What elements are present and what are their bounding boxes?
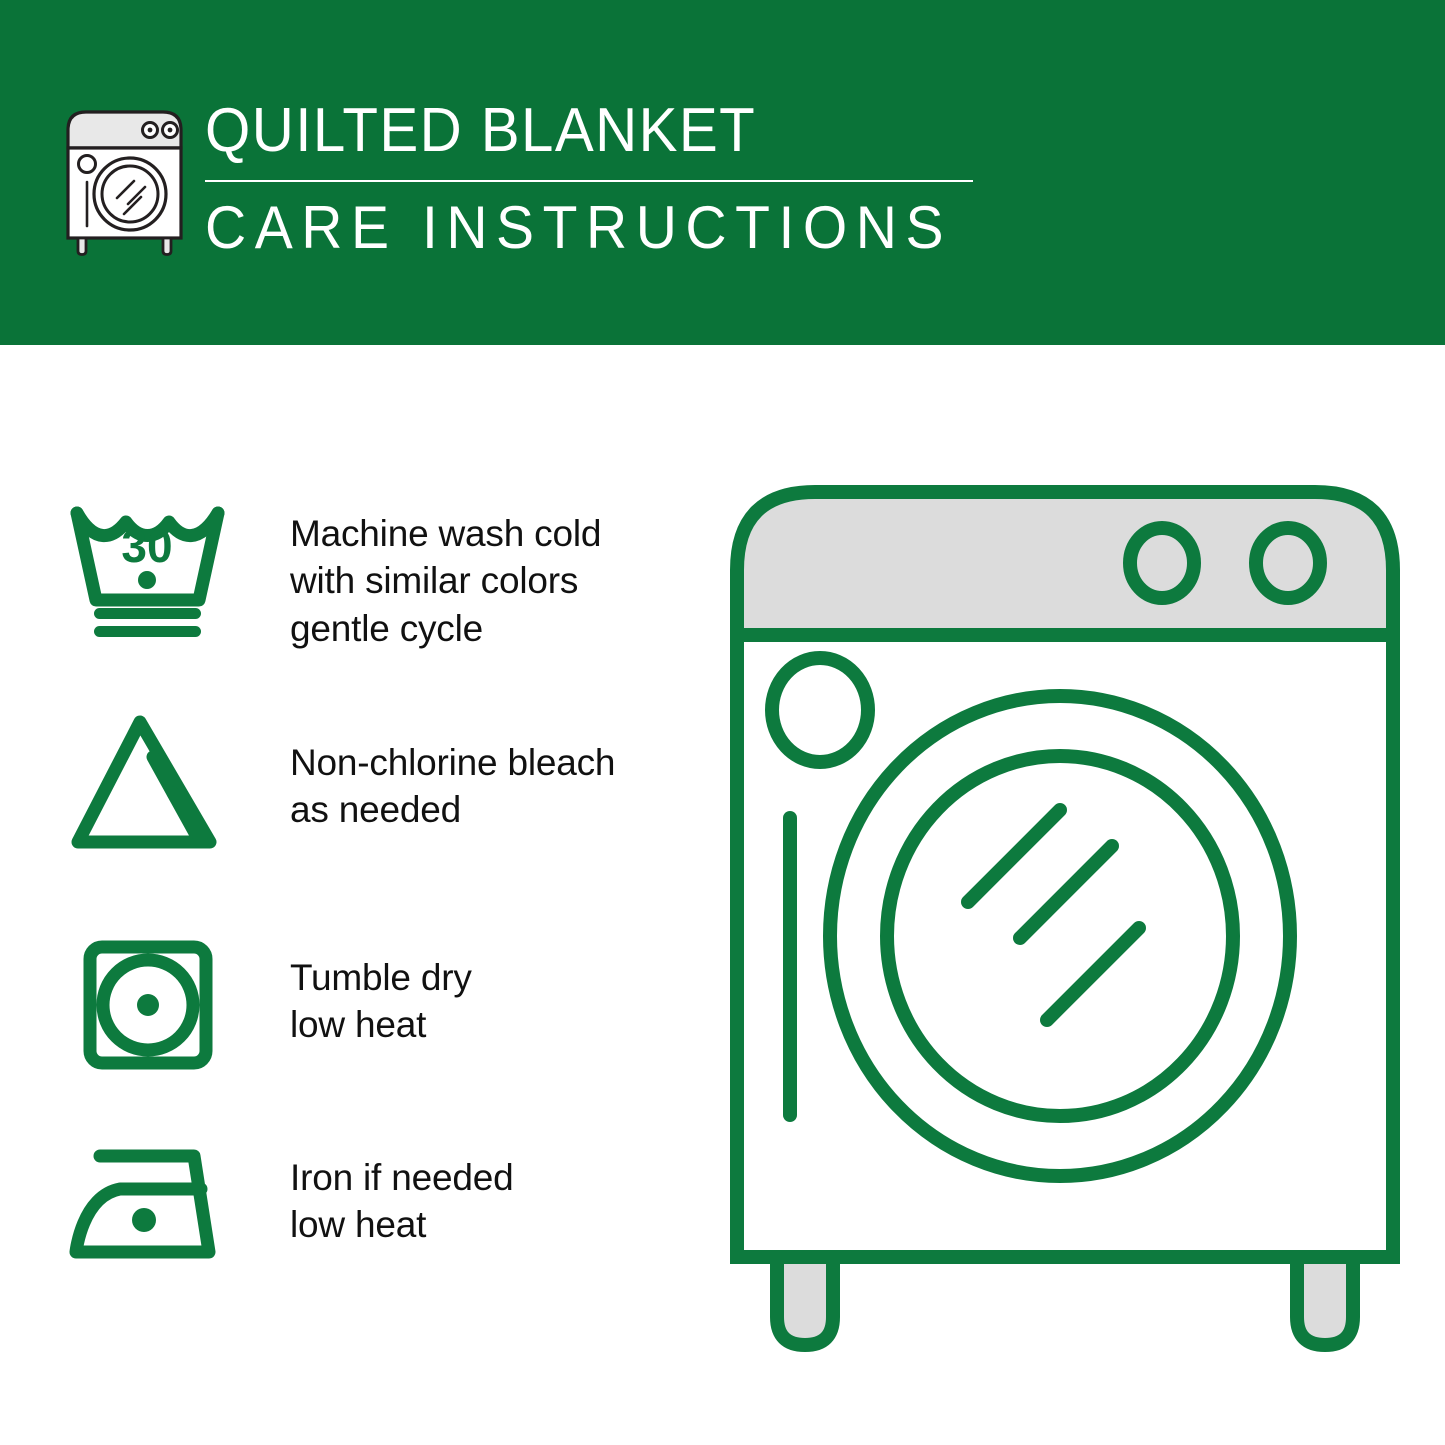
leg-left bbox=[777, 1257, 833, 1345]
care-label-line: with similar colors bbox=[290, 557, 601, 604]
page-subtitle: CARE INSTRUCTIONS bbox=[205, 198, 946, 258]
care-label-line: as needed bbox=[290, 786, 615, 833]
care-label-line: low heat bbox=[290, 1201, 513, 1248]
knob-right bbox=[1256, 528, 1320, 598]
care-item-label: Iron if needed low heat bbox=[290, 1140, 513, 1249]
care-instructions-poster: QUILTED BLANKET CARE INSTRUCTIONS 30 bbox=[0, 0, 1445, 1445]
care-label-line: gentle cycle bbox=[290, 605, 601, 652]
care-item-label: Non-chlorine bleach as needed bbox=[290, 705, 615, 834]
care-label-line: Machine wash cold bbox=[290, 510, 601, 557]
tumble-dry-low-icon bbox=[60, 930, 235, 1080]
iron-low-heat-icon bbox=[60, 1140, 235, 1290]
care-item-bleach: Non-chlorine bleach as needed bbox=[60, 705, 700, 855]
care-item-machine-wash: 30 Machine wash cold with similar colors… bbox=[60, 488, 700, 652]
care-label-line: Non-chlorine bleach bbox=[290, 739, 615, 786]
care-item-label: Machine wash cold with similar colors ge… bbox=[290, 488, 601, 652]
care-item-iron: Iron if needed low heat bbox=[60, 1140, 700, 1290]
non-chlorine-bleach-triangle-icon bbox=[60, 705, 235, 855]
care-item-tumble-dry: Tumble dry low heat bbox=[60, 930, 700, 1080]
care-label-line: low heat bbox=[290, 1001, 472, 1048]
front-load-washing-machine-illustration bbox=[715, 470, 1415, 1370]
indicator-light bbox=[772, 658, 868, 762]
header-band: QUILTED BLANKET CARE INSTRUCTIONS bbox=[0, 0, 1445, 345]
washing-machine-icon bbox=[62, 104, 187, 256]
wash-temperature-value: 30 bbox=[121, 520, 172, 572]
care-label-line: Iron if needed bbox=[290, 1154, 513, 1201]
knob-left bbox=[1130, 528, 1194, 598]
header-text-block: QUILTED BLANKET CARE INSTRUCTIONS bbox=[205, 100, 985, 258]
page-title: QUILTED BLANKET bbox=[205, 100, 938, 162]
care-label-line: Tumble dry bbox=[290, 954, 472, 1001]
wash-tub-30-gentle-icon: 30 bbox=[60, 488, 235, 638]
care-item-label: Tumble dry low heat bbox=[290, 930, 472, 1049]
leg-right bbox=[1297, 1257, 1353, 1345]
title-divider bbox=[205, 180, 973, 182]
